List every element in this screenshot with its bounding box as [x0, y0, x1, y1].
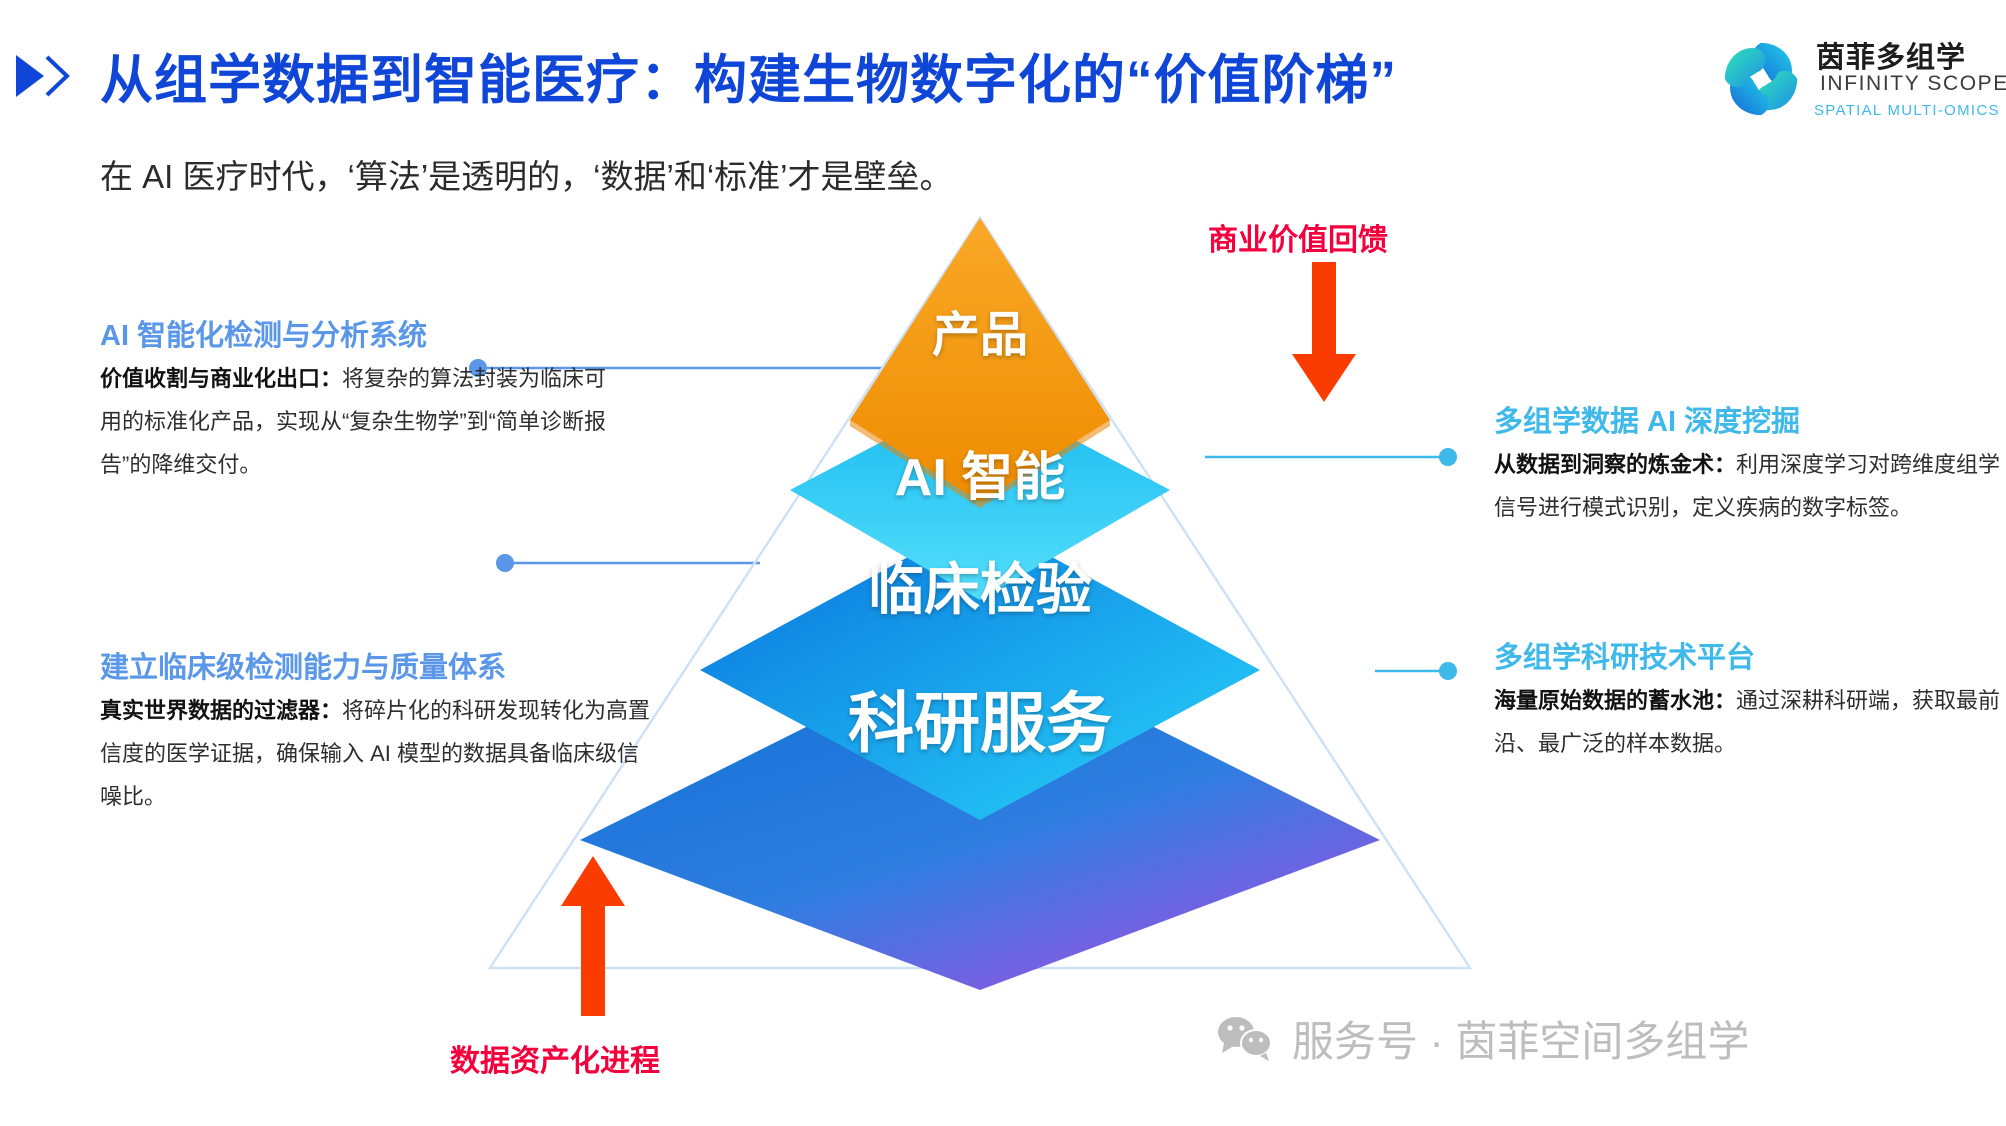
annotation-body: 真实世界数据的过滤器：将碎片化的科研发现转化为高置信度的医学证据，确保输入 AI… — [100, 690, 660, 819]
annotation-heading: 多组学科研技术平台 — [1494, 640, 2006, 676]
wechat-icon — [1216, 1015, 1274, 1063]
page-subtitle: 在 AI 医疗时代，‘算法’是透明的，‘数据’和‘标准’才是壁垒。 — [100, 150, 953, 198]
callout-top-label: 商业价值回馈 — [1208, 215, 1388, 259]
annotation-body: 海量原始数据的蓄水池：通过深耕科研端，获取最前沿、最广泛的样本数据。 — [1494, 680, 2006, 766]
annotation-body-bold: 从数据到洞察的炼金术： — [1494, 452, 1736, 477]
double-chevron-right-icon — [14, 52, 76, 100]
annotation-clinical-capability: 建立临床级检测能力与质量体系 真实世界数据的过滤器：将碎片化的科研发现转化为高置… — [100, 650, 660, 819]
annotation-body: 从数据到洞察的炼金术：利用深度学习对跨维度组学信号进行模式识别，定义疾病的数字标… — [1494, 444, 2006, 530]
watermark-text: 服务号 · 茵菲空间多组学 — [1292, 1008, 1749, 1069]
logo-name-cn: 茵菲多组学 — [1816, 34, 1966, 76]
watermark: 服务号 · 茵菲空间多组学 — [1216, 1008, 1749, 1069]
annotation-body: 价值收割与商业化出口：将复杂的算法封装为临床可用的标准化产品，实现从“复杂生物学… — [100, 358, 620, 487]
annotation-ai-system: AI 智能化检测与分析系统 价值收割与商业化出口：将复杂的算法封装为临床可用的标… — [100, 318, 620, 487]
annotation-body-bold: 海量原始数据的蓄水池： — [1494, 688, 1736, 713]
annotation-body-bold: 真实世界数据的过滤器： — [100, 698, 342, 723]
callout-bottom-label: 数据资产化进程 — [450, 1036, 660, 1080]
page-title: 从组学数据到智能医疗：构建生物数字化的“价值阶梯” — [100, 38, 1397, 114]
annotation-body-bold: 价值收割与商业化出口： — [100, 366, 342, 391]
slide-canvas: 从组学数据到智能医疗：构建生物数字化的“价值阶梯” 在 AI 医疗时代，‘算法’… — [0, 0, 2006, 1126]
pyramid-label-clinical: 临床检验 — [470, 545, 1490, 626]
logo-name-en: INFINITY SCOPE — [1820, 72, 2006, 96]
arrow-up-icon — [557, 856, 629, 1016]
pyramid-label-ai: AI 智能 — [470, 435, 1490, 510]
logo-tagline: SPATIAL MULTI-OMICS — [1814, 102, 2000, 119]
annotation-deep-mining: 多组学数据 AI 深度挖掘 从数据到洞察的炼金术：利用深度学习对跨维度组学信号进… — [1494, 404, 2006, 530]
infinity-scope-pinwheel-logo — [1718, 36, 1804, 122]
annotation-heading: 建立临床级检测能力与质量体系 — [100, 650, 660, 686]
arrow-down-icon — [1288, 262, 1360, 402]
annotation-heading: AI 智能化检测与分析系统 — [100, 318, 620, 354]
brand-logo: 茵菲多组学 INFINITY SCOPE SPATIAL MULTI-OMICS — [1718, 30, 1998, 134]
annotation-heading: 多组学数据 AI 深度挖掘 — [1494, 404, 2006, 440]
annotation-research-platform: 多组学科研技术平台 海量原始数据的蓄水池：通过深耕科研端，获取最前沿、最广泛的样… — [1494, 640, 2006, 766]
